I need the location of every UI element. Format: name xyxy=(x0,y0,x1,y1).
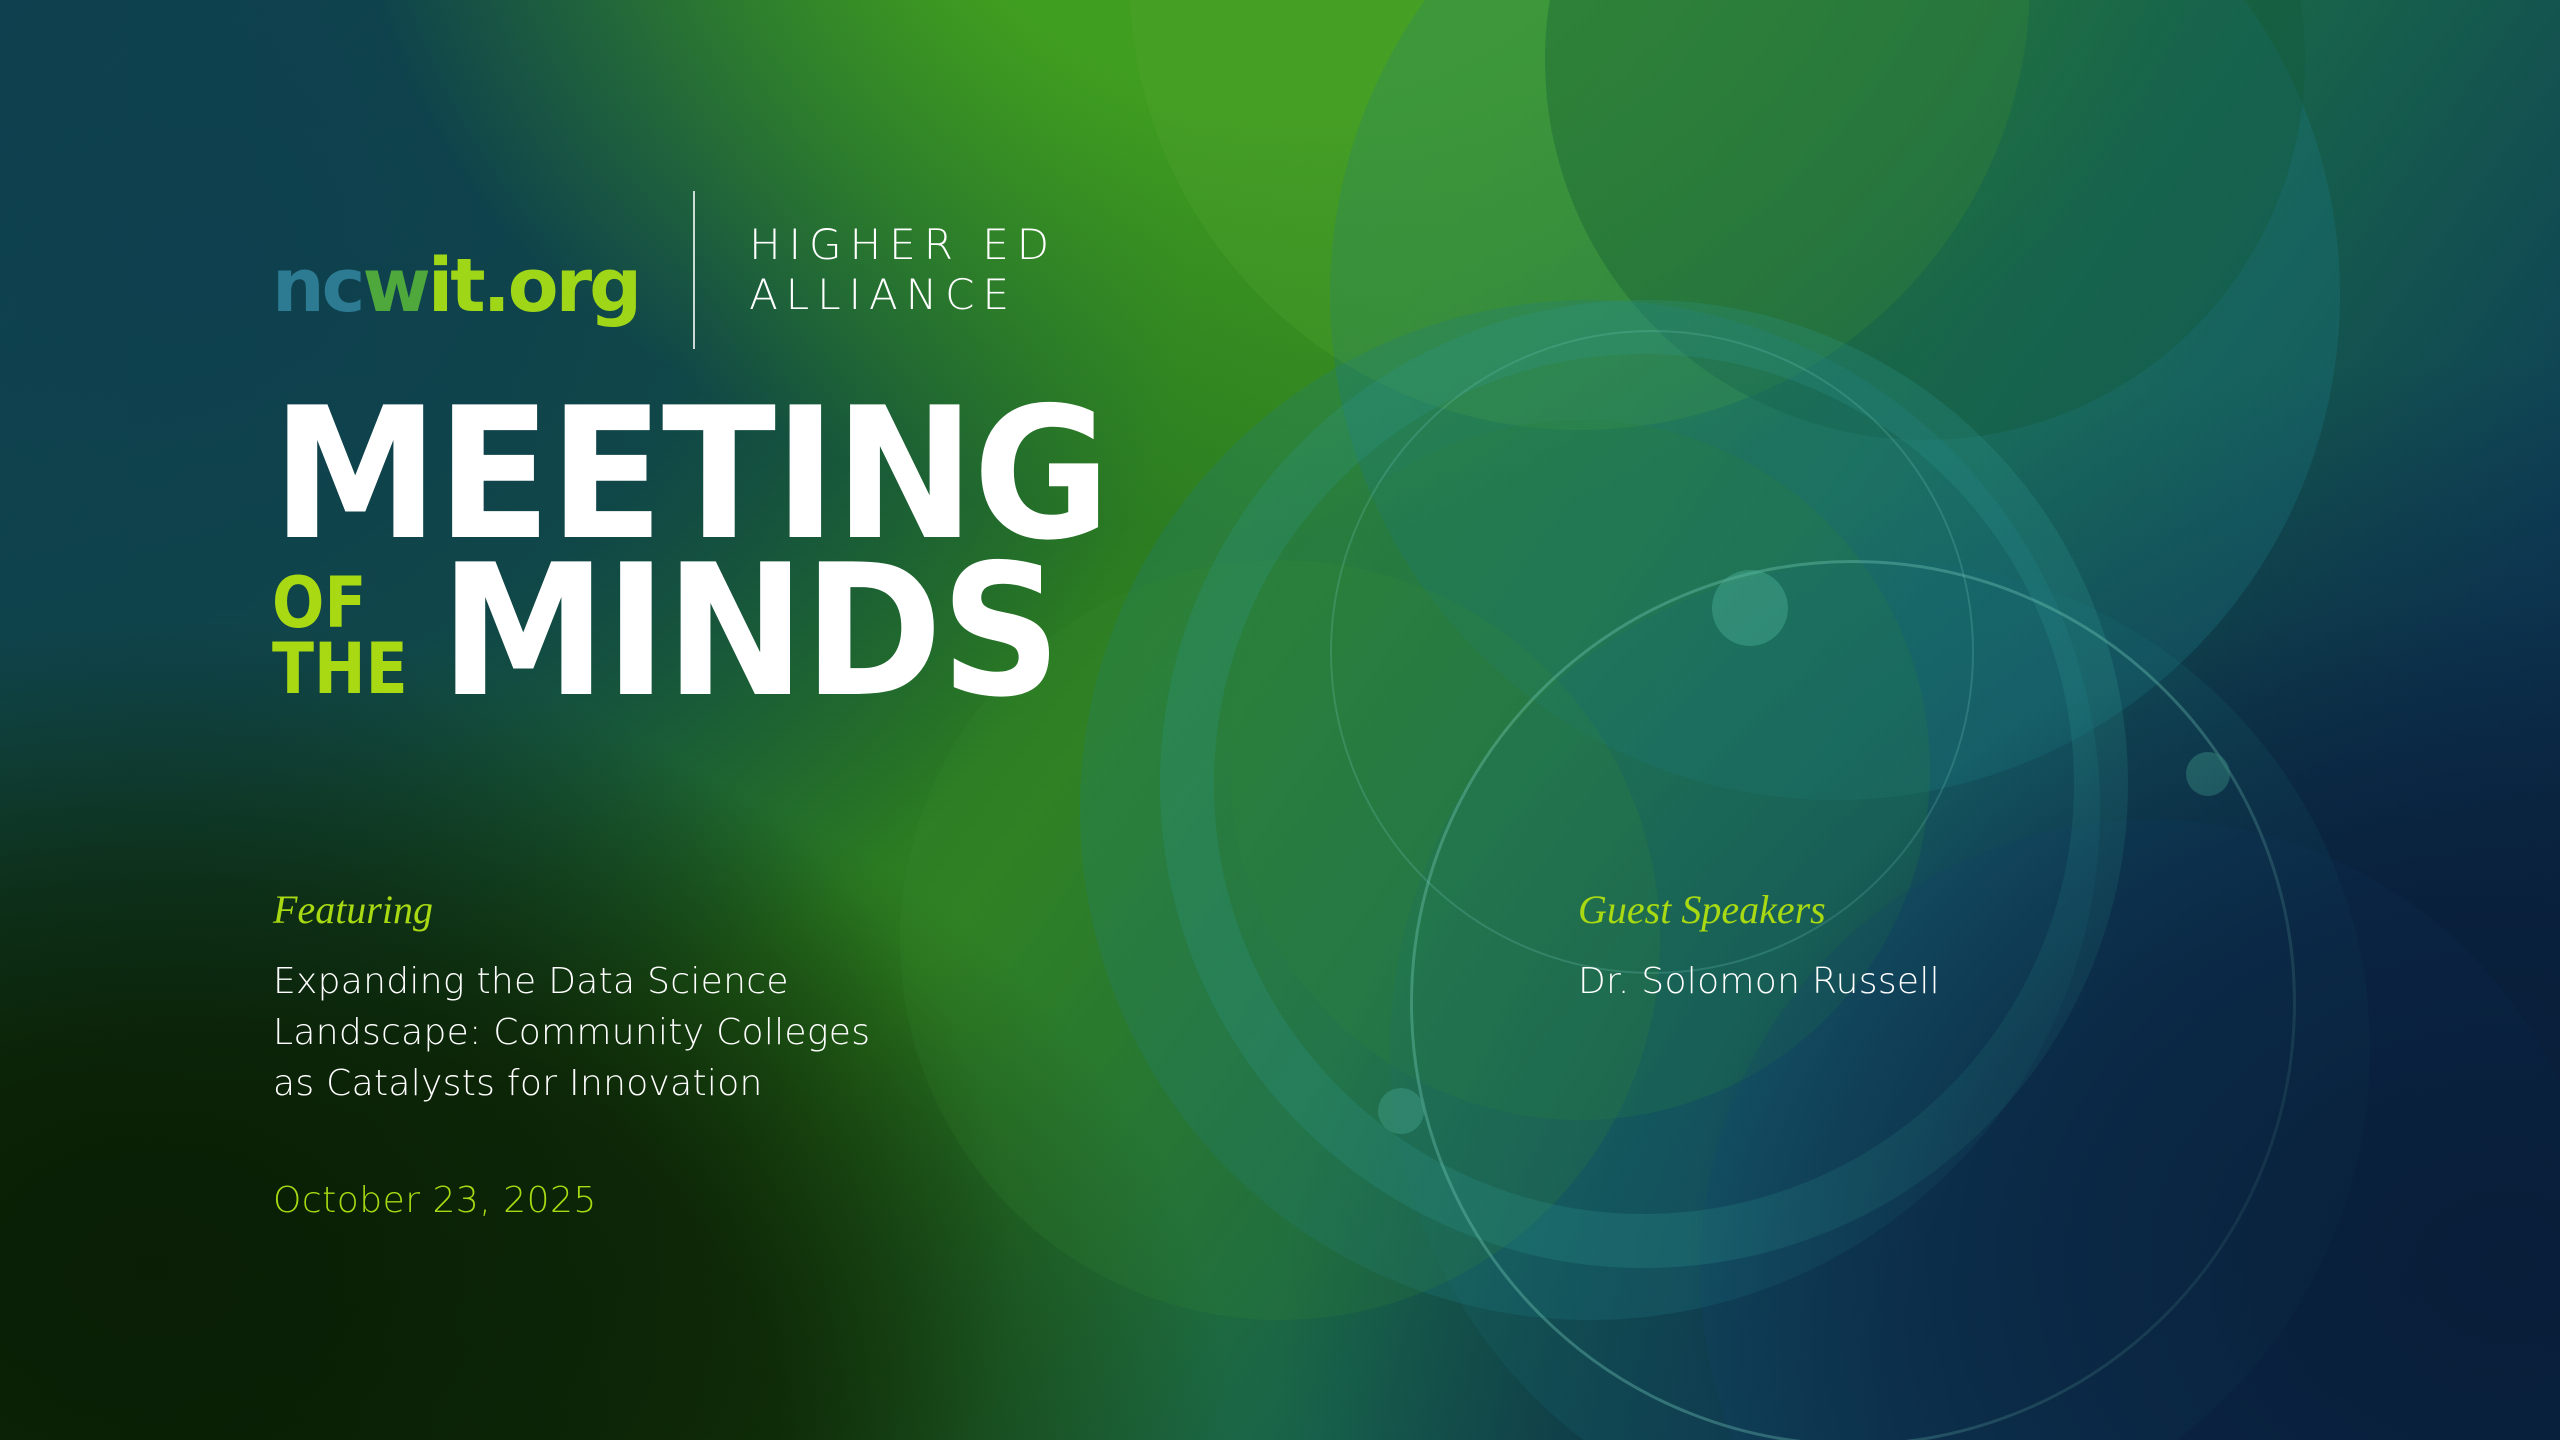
event-title-the: THE xyxy=(272,637,408,703)
program-name-line1: HIGHER ED xyxy=(749,220,1057,270)
program-name-line2: ALLIANCE xyxy=(749,270,1057,320)
slide-content: ncwit.org HIGHER ED ALLIANCE MEETING OF … xyxy=(0,0,2560,1440)
brand-lockup: ncwit.org HIGHER ED ALLIANCE xyxy=(272,190,1057,350)
featuring-session-title: Expanding the Data Science Landscape: Co… xyxy=(273,956,1073,1109)
lockup-divider xyxy=(693,191,695,349)
ncwit-logo-w: w xyxy=(363,243,428,329)
ncwit-logo-itorg: it.org xyxy=(428,243,639,329)
featuring-session-line2: Landscape: Community Colleges xyxy=(273,1007,1073,1058)
presentation-slide: ncwit.org HIGHER ED ALLIANCE MEETING OF … xyxy=(0,0,2560,1440)
featuring-session-line1: Expanding the Data Science xyxy=(273,956,1073,1007)
event-date: October 23, 2025 xyxy=(273,1180,597,1221)
event-title-line-minds: MINDS xyxy=(440,557,1059,706)
ncwit-logo: ncwit.org xyxy=(272,249,639,323)
guest-speakers-block: Guest Speakers Dr. Solomon Russell xyxy=(1578,890,2378,1007)
featuring-block: Featuring Expanding the Data Science Lan… xyxy=(273,890,1073,1109)
guest-speaker-name: Dr. Solomon Russell xyxy=(1578,956,2378,1007)
featuring-eyebrow: Featuring xyxy=(273,890,1073,930)
event-title: MEETING OF THE MINDS xyxy=(272,400,1372,706)
event-title-of-the: OF THE xyxy=(272,571,408,707)
guest-speakers-eyebrow: Guest Speakers xyxy=(1578,890,2378,930)
guest-speaker-list: Dr. Solomon Russell xyxy=(1578,956,2378,1007)
featuring-session-line3: as Catalysts for Innovation xyxy=(273,1058,1073,1109)
ncwit-logo-nc: nc xyxy=(272,243,363,329)
program-name: HIGHER ED ALLIANCE xyxy=(749,220,1057,319)
event-title-of: OF xyxy=(272,571,408,637)
